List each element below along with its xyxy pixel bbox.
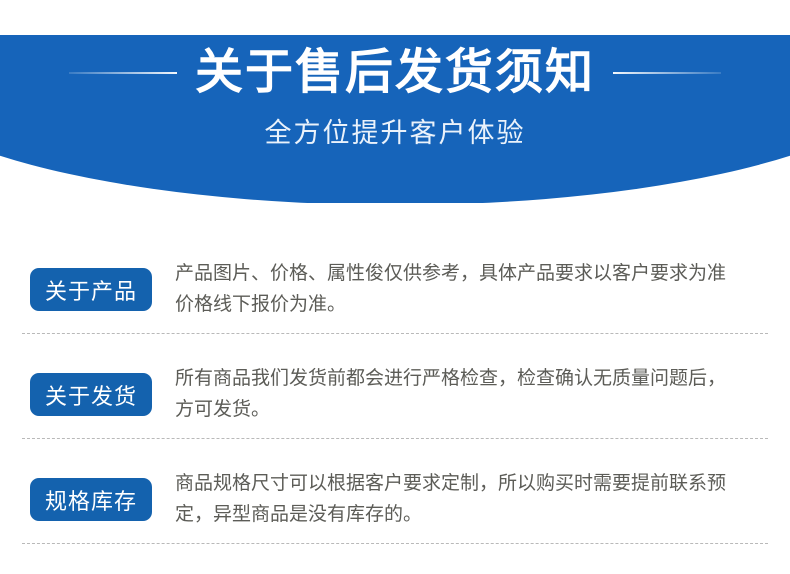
status-badge: 关于产品: [30, 268, 152, 311]
header-banner: 关于售后发货须知 全方位提升客户体验: [0, 35, 790, 203]
list-item: 规格库存 商品规格尺寸可以根据客户要求定制，所以购买时需要提前联系预 定，异型商…: [0, 456, 790, 561]
notice-text-line: 价格线下报价为准。: [175, 289, 775, 320]
notice-text-line: 商品规格尺寸可以根据客户要求定制，所以购买时需要提前联系预: [175, 468, 775, 499]
page-subtitle: 全方位提升客户体验: [0, 120, 790, 147]
row-divider: [22, 438, 768, 439]
banner-title-row: 关于售后发货须知: [0, 49, 790, 97]
notice-text-line: 产品图片、价格、属性俊仅供参考，具体产品要求以客户要求为准: [175, 258, 775, 289]
notice-text: 所有商品我们发货前都会进行严格检查，检查确认无质量问题后， 方可发货。: [175, 363, 775, 425]
notice-row-shipping: 关于发货 所有商品我们发货前都会进行严格检查，检查确认无质量问题后， 方可发货。: [0, 351, 790, 439]
page-root: 关于售后发货须知 全方位提升客户体验 关于产品 产品图片、价格、属性俊仅供参考，…: [0, 0, 790, 574]
decorative-line-left-icon: [69, 72, 177, 74]
notice-row-product: 关于产品 产品图片、价格、属性俊仅供参考，具体产品要求以客户要求为准 价格线下报…: [0, 246, 790, 334]
notice-row-specification: 规格库存 商品规格尺寸可以根据客户要求定制，所以购买时需要提前联系预 定，异型商…: [0, 456, 790, 544]
notice-list: 关于产品 产品图片、价格、属性俊仅供参考，具体产品要求以客户要求为准 价格线下报…: [0, 246, 790, 561]
list-item: 关于产品 产品图片、价格、属性俊仅供参考，具体产品要求以客户要求为准 价格线下报…: [0, 246, 790, 351]
page-title: 关于售后发货须知: [195, 49, 595, 97]
list-item: 关于发货 所有商品我们发货前都会进行严格检查，检查确认无质量问题后， 方可发货。: [0, 351, 790, 456]
notice-text-line: 方可发货。: [175, 394, 775, 425]
notice-text: 产品图片、价格、属性俊仅供参考，具体产品要求以客户要求为准 价格线下报价为准。: [175, 258, 775, 320]
status-badge: 关于发货: [30, 373, 152, 416]
row-divider: [22, 543, 768, 544]
row-divider: [22, 333, 768, 334]
notice-text: 商品规格尺寸可以根据客户要求定制，所以购买时需要提前联系预 定，异型商品是没有库…: [175, 468, 775, 530]
banner-content: 关于售后发货须知 全方位提升客户体验: [0, 35, 790, 203]
notice-text-line: 定，异型商品是没有库存的。: [175, 499, 775, 530]
notice-text-line: 所有商品我们发货前都会进行严格检查，检查确认无质量问题后，: [175, 363, 775, 394]
status-badge: 规格库存: [30, 478, 152, 521]
decorative-line-right-icon: [613, 72, 721, 74]
